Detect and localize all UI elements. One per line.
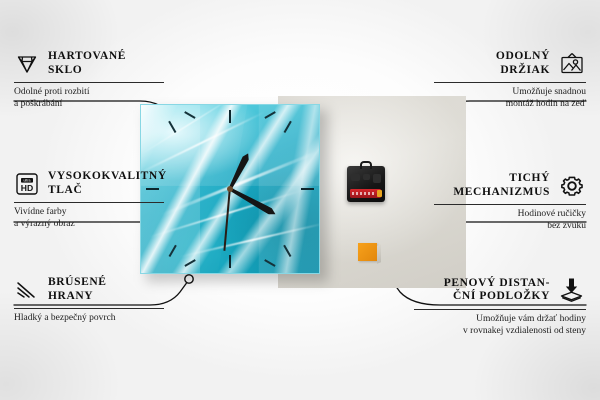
diamond-icon bbox=[14, 52, 40, 76]
feature-silent-mechanism: TICHÝ MECHANIZMUS Hodinové ručičky bez z… bbox=[434, 172, 586, 232]
feature-title: PENOVÝ DISTAN- ČNÍ PODLOŽKY bbox=[444, 277, 550, 304]
foam-pad-side bbox=[377, 244, 381, 264]
divider bbox=[434, 204, 586, 205]
feature-foam-spacers: PENOVÝ DISTAN- ČNÍ PODLOŽKY Umožňuje vám… bbox=[414, 276, 586, 337]
feature-title: TICHÝ MECHANIZMUS bbox=[453, 172, 550, 199]
feature-header: ODOLNÝ DRŽIAK bbox=[434, 50, 586, 77]
ultra-hd-badge-icon: ultra HD bbox=[14, 171, 40, 197]
tick-6 bbox=[229, 255, 231, 268]
clock-mechanism bbox=[347, 166, 385, 202]
feature-description: Odolné proti rozbití a poškrábání bbox=[14, 87, 164, 110]
divider bbox=[414, 309, 586, 310]
feature-description: Hodinové ručičky bez zvuku bbox=[434, 209, 586, 232]
feature-header: HARTOVANÉ SKLO bbox=[14, 50, 164, 77]
foam-spacer-pad bbox=[358, 243, 377, 261]
battery-terminal bbox=[377, 190, 382, 197]
polished-edges-icon bbox=[14, 278, 40, 302]
hanger-loop bbox=[360, 161, 372, 169]
feature-description: Umožňuje snadnou montáž hodin na zeď bbox=[434, 87, 586, 110]
feature-description: Umožňuje vám držať hodiny v rovnakej vzd… bbox=[414, 314, 586, 337]
feature-header: TICHÝ MECHANIZMUS bbox=[434, 172, 586, 199]
svg-text:HD: HD bbox=[21, 183, 33, 193]
divider bbox=[434, 82, 586, 83]
hand-cap bbox=[227, 186, 233, 192]
feature-hardened-glass: HARTOVANÉ SKLO Odolné proti rozbití a po… bbox=[14, 50, 164, 110]
battery-label bbox=[352, 192, 375, 195]
mechanism-notch bbox=[373, 174, 381, 183]
feature-header: BRÚSENÉ HRANY bbox=[14, 276, 164, 303]
picture-hanger-icon bbox=[558, 51, 586, 77]
feature-header: ultra HD VYSOKOKVALITNÝ TLAČ bbox=[14, 170, 164, 197]
feature-description: Hladký a bezpečný povrch bbox=[14, 313, 164, 325]
divider bbox=[14, 82, 164, 83]
battery bbox=[350, 189, 381, 198]
gear-icon bbox=[558, 173, 586, 199]
mechanism-notch bbox=[351, 174, 360, 181]
feature-title: BRÚSENÉ HRANY bbox=[48, 276, 107, 303]
press-layers-icon bbox=[558, 276, 586, 304]
feature-description: Vivídne farby a výrazný obraz bbox=[14, 207, 164, 230]
product-image bbox=[136, 96, 466, 296]
feature-title: VYSOKOKVALITNÝ TLAČ bbox=[48, 170, 167, 197]
divider bbox=[14, 202, 164, 203]
svg-text:ultra: ultra bbox=[24, 178, 31, 182]
feature-high-quality-print: ultra HD VYSOKOKVALITNÝ TLAČ Vivídne far… bbox=[14, 170, 164, 230]
feature-title: HARTOVANÉ SKLO bbox=[48, 50, 126, 77]
mechanism-notch bbox=[363, 174, 370, 180]
divider bbox=[14, 308, 164, 309]
glass-clock-face bbox=[140, 104, 320, 274]
feature-polished-edges: BRÚSENÉ HRANY Hladký a bezpečný povrch bbox=[14, 276, 164, 325]
tick-3 bbox=[301, 188, 314, 190]
feature-header: PENOVÝ DISTAN- ČNÍ PODLOŽKY bbox=[414, 276, 586, 304]
feature-durable-holder: ODOLNÝ DRŽIAK Umožňuje snadnou montáž ho… bbox=[434, 50, 586, 110]
infographic-canvas: HARTOVANÉ SKLO Odolné proti rozbití a po… bbox=[0, 0, 600, 400]
tick-12 bbox=[229, 110, 231, 123]
feature-title: ODOLNÝ DRŽIAK bbox=[496, 50, 550, 77]
